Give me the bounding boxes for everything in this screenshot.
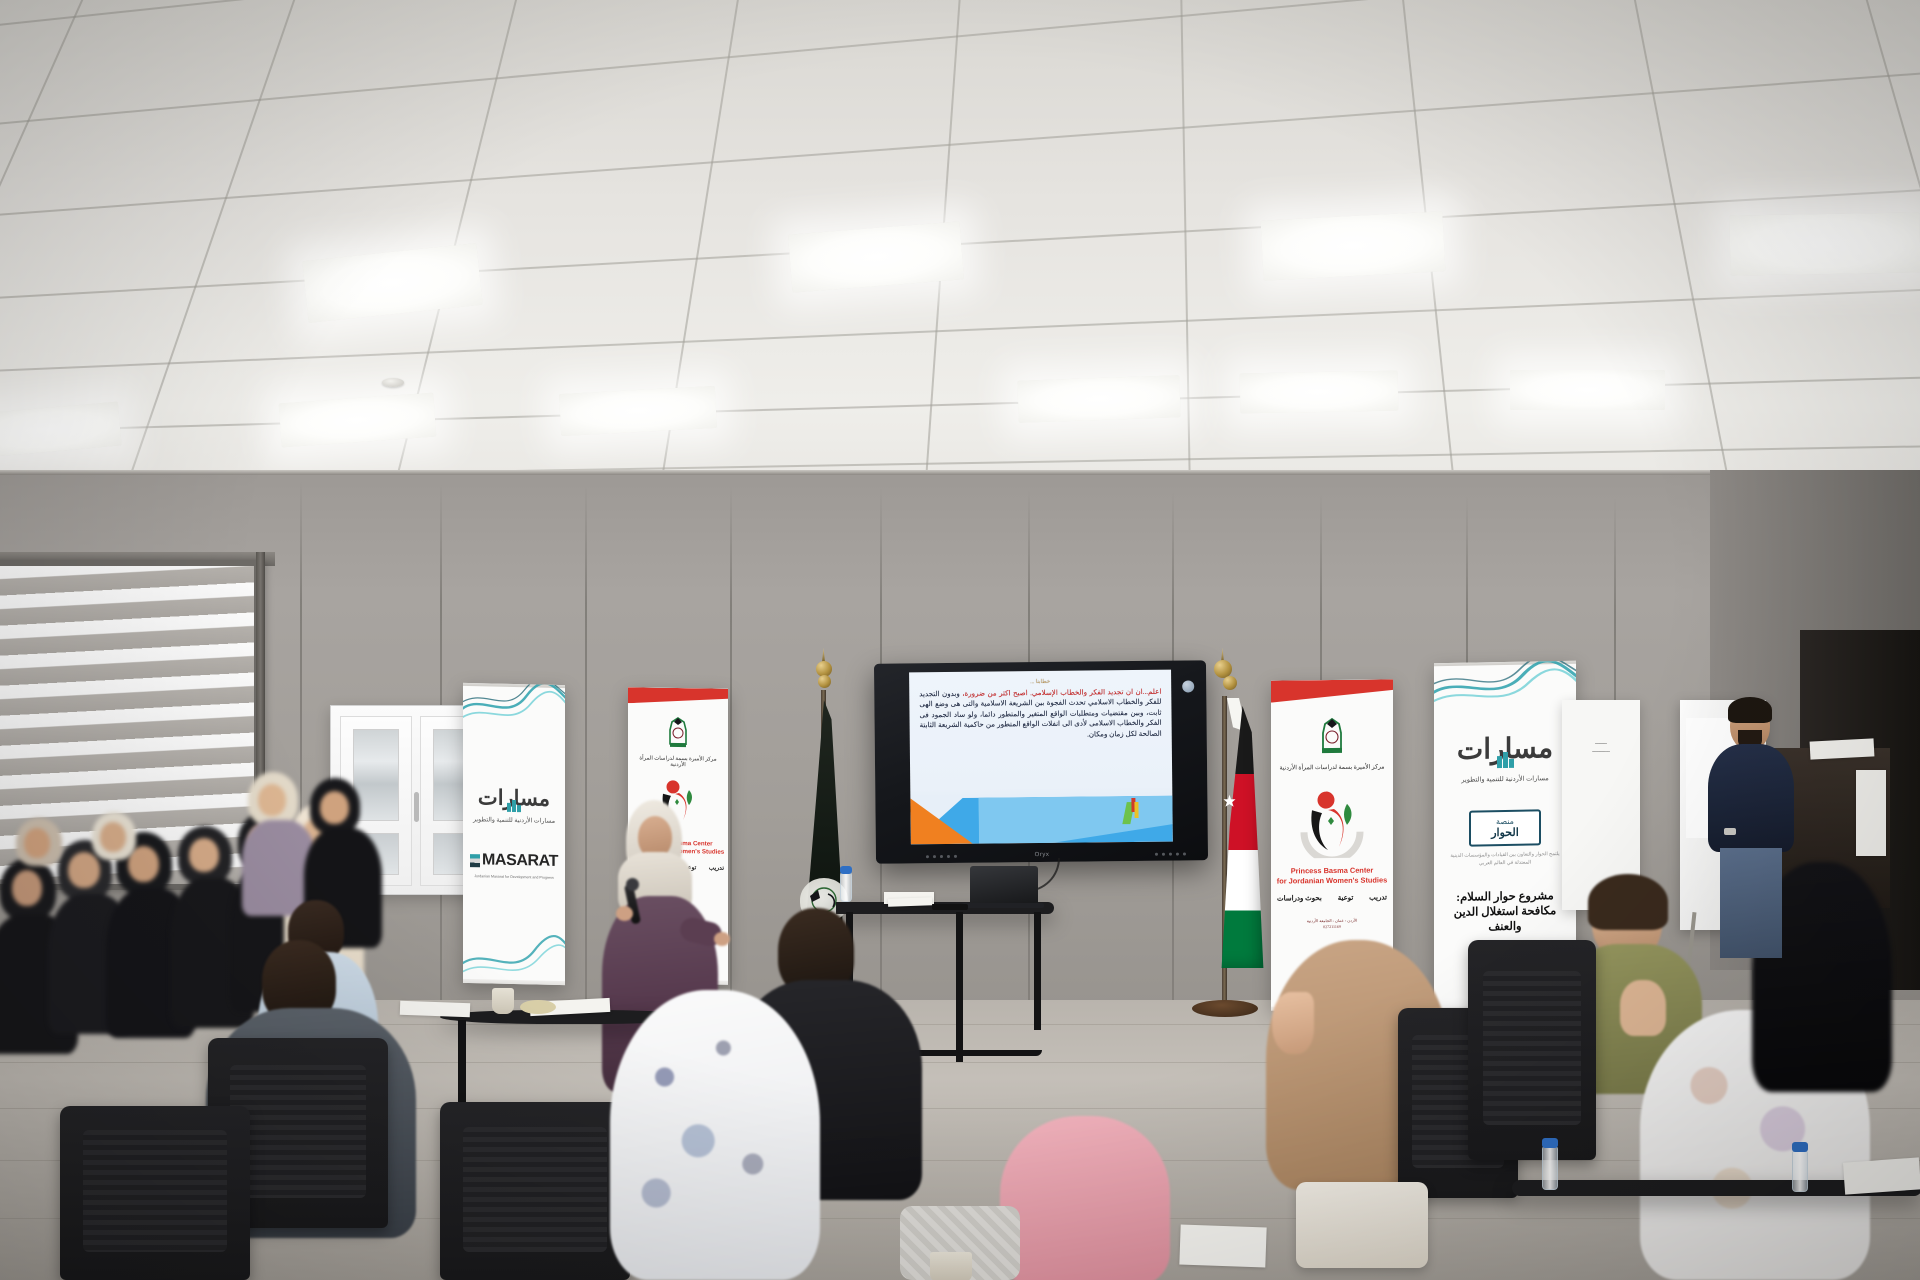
floral-hijab: [610, 990, 820, 1280]
project-line2: مكافحة استغلال الدين: [1440, 904, 1570, 921]
basma-crest-icon: [661, 716, 695, 751]
bottle-cap: [1792, 1142, 1808, 1152]
wall-cornice: [0, 470, 1920, 475]
ceiling-light-panel: [559, 386, 717, 436]
flag-stand-base: [1192, 1000, 1258, 1017]
hiwar-platform-logo: منصة الحوار: [1469, 809, 1541, 846]
hiwar-line2: الحوار: [1491, 826, 1519, 839]
watch: [1724, 828, 1736, 835]
basma-emblem-icon: [1296, 784, 1368, 859]
smoke-detector: [382, 378, 404, 387]
slide-paragraph-rest: وبدون التجديد للفكر والخطاب الاسلامي تحد…: [919, 690, 1162, 738]
secondary-banner-text: ــــــــــــــــــــ: [1566, 740, 1636, 756]
microphone-head-icon: [626, 878, 639, 891]
handbag[interactable]: [1296, 1182, 1428, 1268]
display-button-row-right[interactable]: [1155, 852, 1186, 855]
basma-crest-icon: [1311, 716, 1353, 758]
flag-star-icon: [1222, 794, 1237, 809]
bottle-cap: [1542, 1138, 1558, 1148]
ceiling-light-panel: [1729, 212, 1920, 275]
slide-footer-graphic: [910, 796, 1172, 845]
arrow-icon: [1124, 798, 1138, 824]
banner-masarat-left: مسارات مسارات الأردنية للتنمية والتطوير …: [463, 683, 565, 985]
shelf-papers: [1810, 738, 1875, 759]
conference-room-photo: مسارات مسارات الأردنية للتنمية والتطوير …: [0, 0, 1920, 1280]
presentation-display[interactable]: خطابنا ... اعلم...ان ان تجديد الفكر والخ…: [874, 660, 1208, 863]
table-leg: [1034, 912, 1041, 1030]
coffee-cup[interactable]: [492, 988, 514, 1014]
basma-phone: 027211169: [1279, 923, 1385, 930]
project-title-block: مشروع حوار السلام: مكافحة استغلال الدين …: [1440, 889, 1570, 936]
ceiling-light-panel: [1240, 371, 1399, 414]
chair[interactable]: [440, 1102, 630, 1280]
papers-on-table[interactable]: [888, 897, 932, 907]
basma-header-ar: مركز الأميرة بسمة لدراسات المرأة الأردني…: [1276, 763, 1388, 771]
basma-red-bar: [628, 687, 728, 705]
hiwar-line1: منصة: [1496, 817, 1514, 826]
chair[interactable]: [60, 1106, 250, 1280]
snack-plate: [520, 1000, 556, 1014]
coffee-cup[interactable]: [930, 1252, 972, 1280]
masarat-tagline-en: Jordanian Masarat for Development and Pr…: [463, 873, 565, 879]
display-screen: خطابنا ... اعلم...ان ان تجديد الفكر والخ…: [909, 670, 1173, 845]
notebook[interactable]: [1843, 1157, 1920, 1194]
water-bottle[interactable]: [1542, 1146, 1558, 1190]
screen-glare-dot: [1182, 680, 1194, 692]
display-button-row-left[interactable]: [926, 855, 957, 858]
shelf-papers: [1856, 770, 1886, 856]
presenter-hand: [714, 932, 730, 946]
hair: [1728, 697, 1772, 723]
masarat-tagline-ar: مسارات الأردنية للتنمية والتطوير: [1434, 774, 1576, 784]
slide-paragraph-highlight: اعلم...ان ان تجديد الفكر والخطاب الإسلام…: [962, 688, 1161, 698]
chair[interactable]: [1468, 940, 1596, 1160]
slide: خطابنا ... اعلم...ان ان تجديد الفكر والخ…: [909, 670, 1173, 845]
laptop[interactable]: [970, 866, 1038, 904]
flag-finial: [1214, 648, 1232, 700]
notebook[interactable]: [1179, 1225, 1266, 1268]
water-bottle[interactable]: [840, 872, 852, 902]
face: [1272, 992, 1314, 1054]
bottle-cap: [840, 866, 852, 874]
presenter-hand-left: [616, 906, 633, 921]
pink-hijab: [1000, 1116, 1170, 1280]
wave-graphic: [463, 683, 565, 733]
basma-header-ar: مركز الأميرة بسمة لدراسات المرأة الأردني…: [632, 755, 724, 768]
ceiling-light-panel: [1261, 211, 1446, 280]
phone-on-table[interactable]: [932, 904, 968, 910]
hand-raised: [1620, 980, 1666, 1036]
wave-graphic: [1434, 661, 1576, 717]
basma-red-bar: [1271, 679, 1393, 702]
basma-name-en: Princess Basma Center for Jordanian Wome…: [1271, 865, 1393, 885]
basma-services: تدريب توعية بحوث ودراسات: [1277, 893, 1387, 902]
ceiling-light-panel: [1017, 375, 1180, 423]
table-leg: [956, 912, 963, 1062]
hair: [1588, 874, 1668, 930]
project-line3: والعنف: [1440, 919, 1570, 936]
masarat-tagline-ar: مسارات الأردنية للتنمية والتطوير: [463, 816, 565, 825]
masarat-latin-logo: MASARAT: [482, 851, 558, 871]
jeans: [1720, 848, 1782, 958]
basma-name-en-line2: for Jordanian Women's Studies: [1271, 875, 1393, 886]
hiwar-description: يلتمح الحوار والتعاون بين القيادات والمؤ…: [1444, 851, 1566, 868]
water-bottle[interactable]: [1792, 1150, 1808, 1192]
notebook[interactable]: [400, 1001, 470, 1017]
ceiling-light-panel: [1510, 370, 1665, 410]
laptop-keyboard[interactable]: [962, 903, 1044, 908]
flag-finial: [815, 648, 833, 694]
basma-contact: الأردن - عمان - الجامعة الأردنية 0272111…: [1279, 917, 1385, 930]
polo-shirt: [1708, 744, 1794, 852]
